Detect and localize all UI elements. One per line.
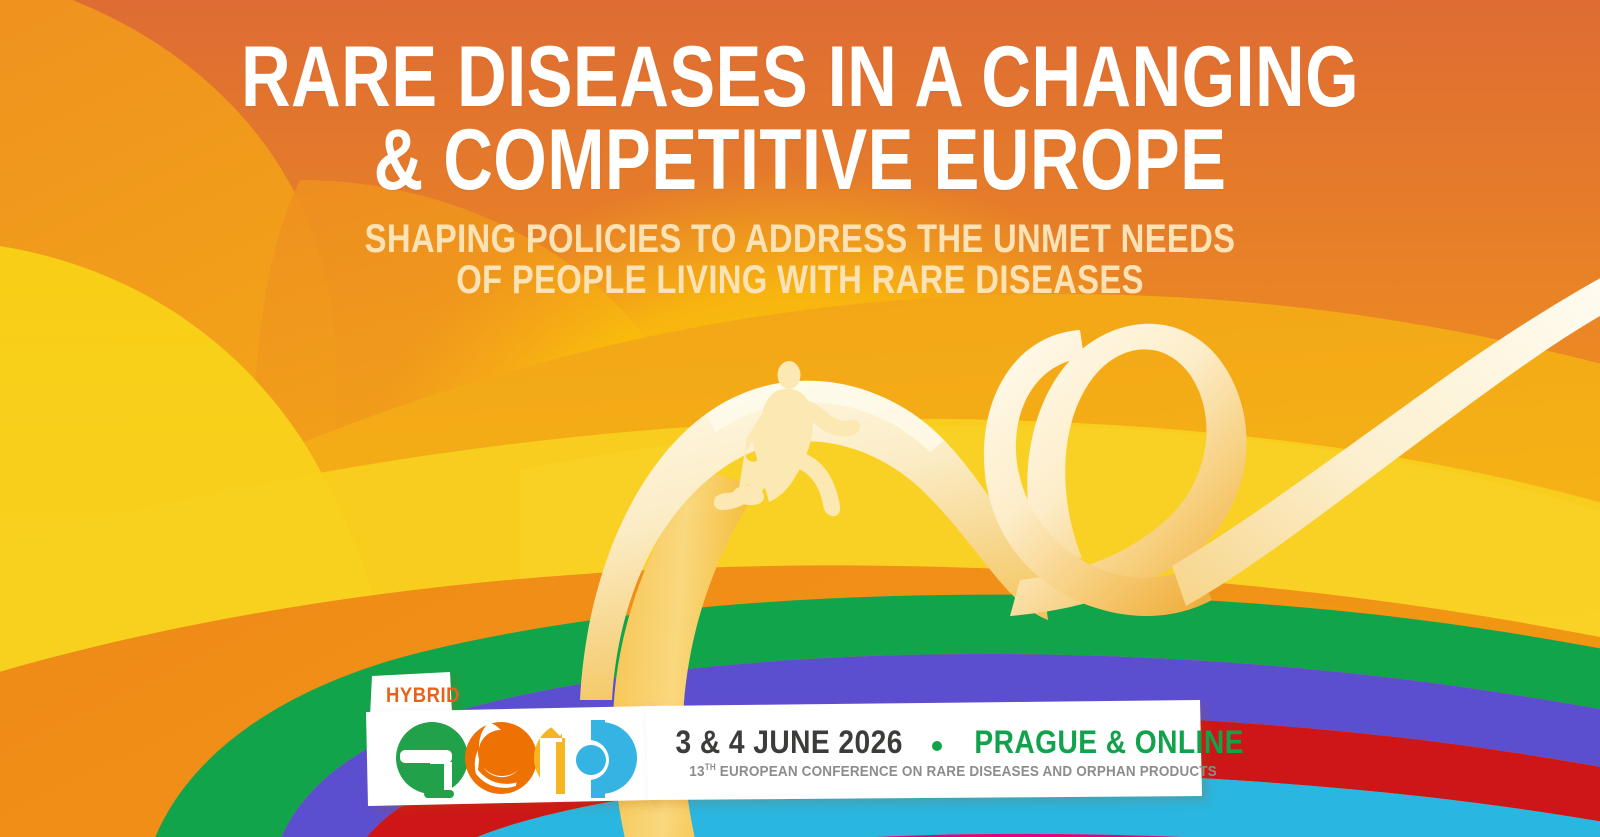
logo-letter-c [465,722,537,794]
hybrid-badge-label: HYBRID [386,684,460,708]
bullet-separator-icon [932,741,942,751]
conference-ordinal: TH [705,762,716,772]
event-location: PRAGUE & ONLINE [975,724,1244,761]
promo-banner: RARE DISEASES IN A CHANGING & COMPETITIV… [0,0,1600,837]
conference-number: 13 [689,763,704,780]
conference-rest: EUROPEAN CONFERENCE ON RARE DISEASES AND… [716,763,1217,780]
logo-wordmark[interactable] [396,720,637,798]
event-date: 3 & 4 JUNE 2026 [675,724,902,761]
event-date-line: 3 & 4 JUNE 2026PRAGUE & ONLINE [660,724,1180,761]
conference-subtitle: 13TH EUROPEAN CONFERENCE ON RARE DISEASE… [660,762,1180,780]
logo-lockup[interactable] [0,0,1600,837]
